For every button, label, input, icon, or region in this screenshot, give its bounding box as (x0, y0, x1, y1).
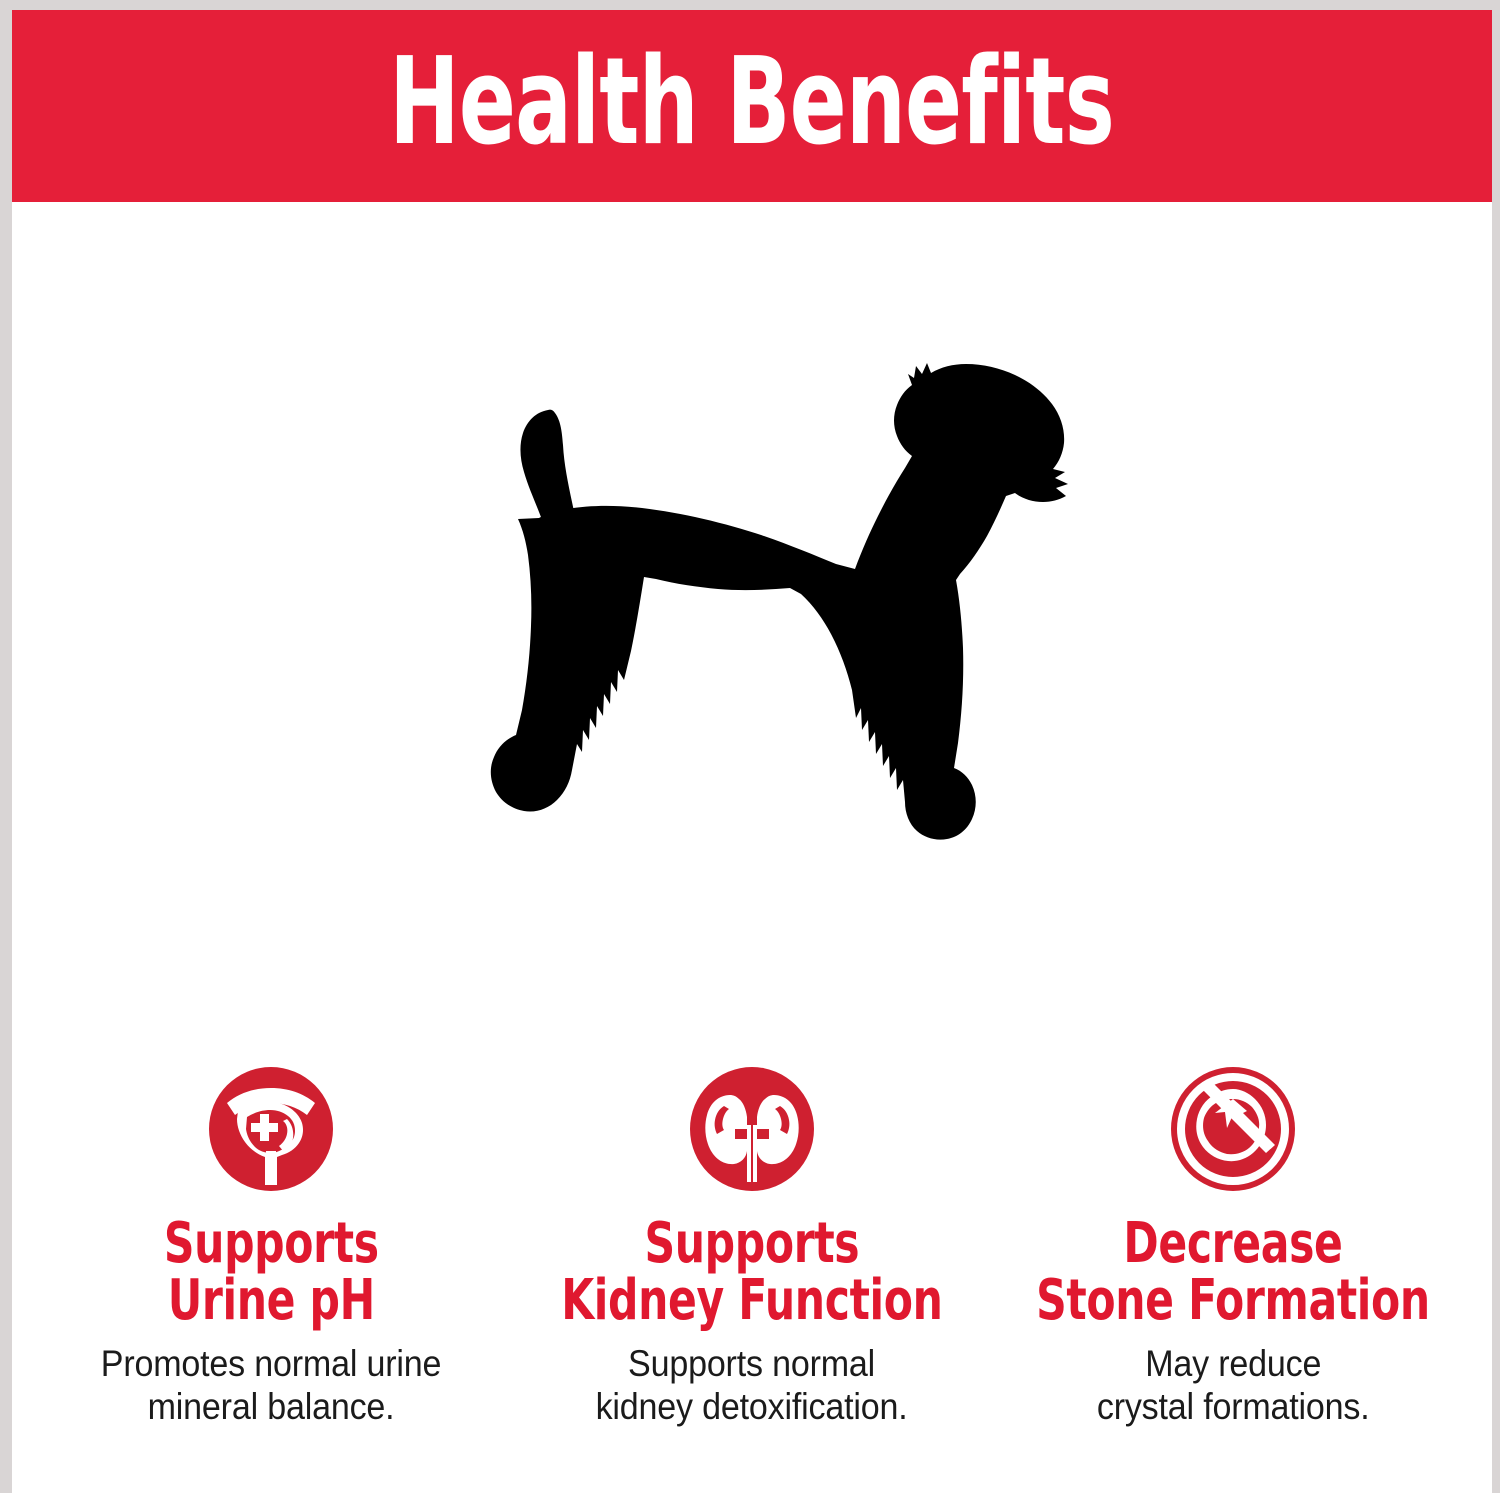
page-title: Health Benefits (390, 43, 1115, 163)
benefit-heading-1-line1: Supports (164, 1211, 379, 1276)
dog-silhouette-icon (400, 350, 1100, 990)
benefit-column-kidney-function: Supports Kidney Function Supports normal… (517, 1065, 987, 1429)
header-banner: Health Benefits (12, 10, 1492, 202)
benefit-heading-3-line2: Stone Formation (1036, 1272, 1430, 1329)
benefit-heading-1-line2: Urine pH (164, 1272, 379, 1329)
benefit-body-1: Promotes normal urine mineral balance. (101, 1343, 441, 1429)
benefit-column-stone-formation: Decrease Stone Formation May reduce crys… (998, 1065, 1468, 1429)
benefit-column-urine-ph: Supports Urine pH Promotes normal urine … (36, 1065, 506, 1429)
benefit-heading-2-line2: Kidney Function (561, 1272, 942, 1329)
content-card: Health Benefits (12, 10, 1492, 1493)
benefit-body-2: Supports normal kidney detoxification. (596, 1343, 908, 1429)
infographic-page: Health Benefits (0, 0, 1500, 1493)
no-stone-icon (1169, 1065, 1297, 1193)
benefit-heading-2: Supports Kidney Function (561, 1215, 942, 1329)
benefit-heading-3: Decrease Stone Formation (1036, 1215, 1430, 1329)
bladder-plus-icon (207, 1065, 335, 1193)
benefit-body-3: May reduce crystal formations. (1097, 1343, 1370, 1429)
benefit-heading-3-line1: Decrease (1123, 1211, 1342, 1276)
kidneys-icon (688, 1065, 816, 1193)
benefit-heading-2-line1: Supports (645, 1211, 860, 1276)
benefit-heading-1: Supports Urine pH (164, 1215, 379, 1329)
hero-image-area (12, 202, 1492, 1032)
benefits-row: Supports Urine pH Promotes normal urine … (12, 1065, 1492, 1465)
